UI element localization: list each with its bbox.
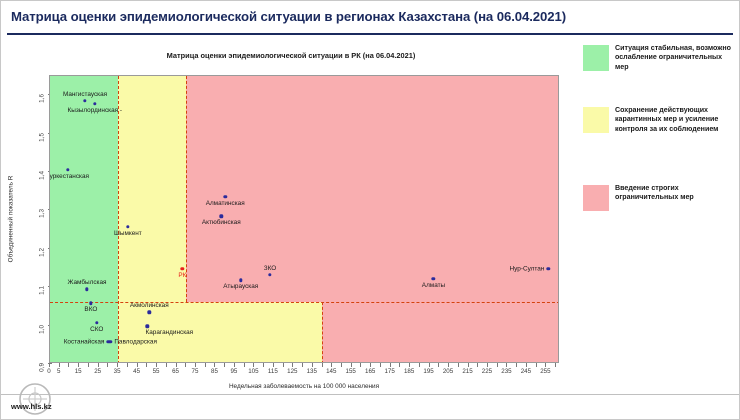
x-tick-mark [351, 363, 352, 367]
x-tick-mark [370, 363, 371, 367]
x-tick-label: 245 [521, 368, 531, 375]
x-tick-mark [331, 363, 332, 367]
y-tick-label: 1,1 [39, 286, 46, 295]
data-point-label: ВКО [84, 306, 97, 313]
x-tick-mark [409, 363, 410, 367]
x-tick-mark [205, 363, 206, 367]
x-tick-mark [49, 363, 50, 367]
x-tick-mark [438, 363, 439, 367]
x-tick-mark [341, 363, 342, 367]
y-axis-tick-labels: 0,91,01,11,21,31,41,51,6 [45, 75, 46, 363]
x-tick-mark [526, 363, 527, 367]
x-tick-mark [127, 363, 128, 367]
x-tick-label: 145 [326, 368, 336, 375]
x-tick-label: 195 [423, 368, 433, 375]
organization-logo-icon [15, 379, 55, 419]
chart-container: Матрица оценки эпидемиологической ситуац… [11, 45, 571, 397]
x-tick-mark [390, 363, 391, 367]
x-tick-mark [419, 363, 420, 367]
x-tick-mark [360, 363, 361, 367]
data-point-label: Актюбинская [202, 219, 241, 226]
x-tick-mark [78, 363, 79, 367]
zone-pink-upper [186, 76, 559, 302]
legend-item-label: Введение строгих ограничительных мер [615, 184, 735, 203]
x-tick-mark [448, 363, 449, 367]
x-tick-label: 165 [365, 368, 375, 375]
x-tick-mark [185, 363, 186, 367]
x-tick-label: 95 [230, 368, 237, 375]
y-axis-title-text: Объединенный показатель R [8, 176, 15, 263]
data-point-label: РК [178, 272, 186, 279]
x-tick-label: 255 [540, 368, 550, 375]
data-point-label: Костанайская [64, 338, 105, 345]
x-axis-title: Недельная заболеваемость на 100 000 насе… [49, 383, 559, 390]
x-tick-mark [283, 363, 284, 367]
x-tick-mark [98, 363, 99, 367]
header-divider [7, 33, 733, 35]
slide-header: Матрица оценки эпидемиологической ситуац… [7, 7, 733, 37]
x-tick-label: 175 [384, 368, 394, 375]
slide-footer: www.hls.kz [1, 394, 739, 419]
x-tick-label: 45 [133, 368, 140, 375]
x-tick-label: 75 [192, 368, 199, 375]
data-point-label: СКО [90, 326, 103, 333]
x-tick-mark [253, 363, 254, 367]
x-tick-label: 105 [248, 368, 258, 375]
y-tick-label: 1,3 [39, 209, 46, 218]
data-point-label: Туркестанская [49, 173, 89, 180]
y-tick-label: 1,5 [39, 133, 46, 142]
x-tick-mark [107, 363, 108, 367]
x-tick-mark [273, 363, 274, 367]
x-tick-label: 65 [172, 368, 179, 375]
x-tick-mark [214, 363, 215, 367]
legend-color-swatch [583, 185, 609, 211]
zone-yellow-upper [118, 76, 186, 302]
y-axis-title: Объединенный показатель R [5, 75, 17, 363]
threshold-line-x50 [186, 76, 187, 302]
x-tick-mark [380, 363, 381, 367]
threshold-line-r [50, 302, 559, 303]
x-tick-mark [322, 363, 323, 367]
x-axis: 0515253545556575859510511512513514515516… [49, 363, 559, 377]
x-tick-label: 215 [462, 368, 472, 375]
x-tick-mark [468, 363, 469, 367]
y-tick-label: 1,2 [39, 248, 46, 257]
x-tick-label: 135 [307, 368, 317, 375]
x-tick-label: 115 [268, 368, 278, 375]
x-tick-label: 0 [47, 368, 50, 375]
y-tick-label: 1,6 [39, 94, 46, 103]
data-point-label: Алматы [422, 282, 445, 289]
x-tick-label: 125 [287, 368, 297, 375]
data-point-label: Карагандинская [146, 329, 194, 336]
x-tick-mark [312, 363, 313, 367]
x-tick-mark [263, 363, 264, 367]
legend: Ситуация стабильная, возможно ослабление… [583, 45, 735, 225]
x-tick-mark [497, 363, 498, 367]
x-tick-mark [224, 363, 225, 367]
x-tick-mark [68, 363, 69, 367]
chart-title: Матрица оценки эпидемиологической ситуац… [11, 51, 571, 60]
x-tick-mark [244, 363, 245, 367]
footer-url[interactable]: www.hls.kz [11, 402, 52, 411]
threshold-line-x25 [118, 76, 119, 363]
threshold-line-x100 [322, 302, 323, 363]
x-tick-mark [59, 363, 60, 367]
data-point-label: Мангистауская [63, 91, 107, 98]
x-tick-label: 5 [57, 368, 60, 375]
x-tick-mark [429, 363, 430, 367]
x-tick-mark [399, 363, 400, 367]
x-tick-mark [506, 363, 507, 367]
y-tick-label: 1,0 [39, 325, 46, 334]
legend-item-label: Сохранение действующих карантинных мер и… [615, 106, 735, 134]
x-tick-label: 15 [75, 368, 82, 375]
x-tick-mark [176, 363, 177, 367]
y-tick-label: 0,9 [39, 363, 46, 372]
x-tick-mark [302, 363, 303, 367]
legend-color-swatch [583, 107, 609, 133]
x-tick-label: 225 [482, 368, 492, 375]
x-tick-mark [234, 363, 235, 367]
x-tick-mark [166, 363, 167, 367]
x-tick-mark [156, 363, 157, 367]
x-tick-label: 155 [346, 368, 356, 375]
data-point-label: Жамбылская [67, 279, 106, 286]
x-tick-mark [195, 363, 196, 367]
x-tick-label: 205 [443, 368, 453, 375]
x-tick-label: 55 [153, 368, 160, 375]
x-tick-mark [88, 363, 89, 367]
y-tick-label: 1,4 [39, 171, 46, 180]
data-point-label: Шымкент [114, 230, 142, 237]
plot-area: МангистаускаяКызылординская -Туркестанск… [49, 75, 559, 363]
x-tick-mark [137, 363, 138, 367]
x-tick-mark [555, 363, 556, 367]
x-tick-mark [117, 363, 118, 367]
data-point-label: Нур-Султан [510, 265, 545, 272]
x-tick-mark [516, 363, 517, 367]
slide-root: Матрица оценки эпидемиологической ситуац… [0, 0, 740, 420]
x-tick-mark [458, 363, 459, 367]
x-tick-label: 25 [94, 368, 101, 375]
legend-item-label: Ситуация стабильная, возможно ослабление… [615, 44, 735, 72]
zone-pink-lower [322, 302, 559, 363]
data-point-label: Кызылординская - [68, 107, 122, 114]
legend-color-swatch [583, 45, 609, 71]
data-point-label: Павлодарская [114, 338, 157, 345]
x-tick-label: 235 [501, 368, 511, 375]
x-tick-mark [487, 363, 488, 367]
x-tick-mark [477, 363, 478, 367]
data-point-label: Акмолинская [130, 302, 169, 309]
x-tick-mark [292, 363, 293, 367]
x-tick-mark [146, 363, 147, 367]
x-tick-label: 85 [211, 368, 218, 375]
data-point-label: Алматинская [206, 200, 245, 207]
x-tick-label: 35 [114, 368, 121, 375]
data-point-label: Атырауская [223, 283, 258, 290]
page-title: Матрица оценки эпидемиологической ситуац… [11, 9, 566, 24]
x-tick-mark [536, 363, 537, 367]
x-tick-mark [545, 363, 546, 367]
x-tick-label: 185 [404, 368, 414, 375]
data-point-label: ЗКО [264, 265, 276, 272]
